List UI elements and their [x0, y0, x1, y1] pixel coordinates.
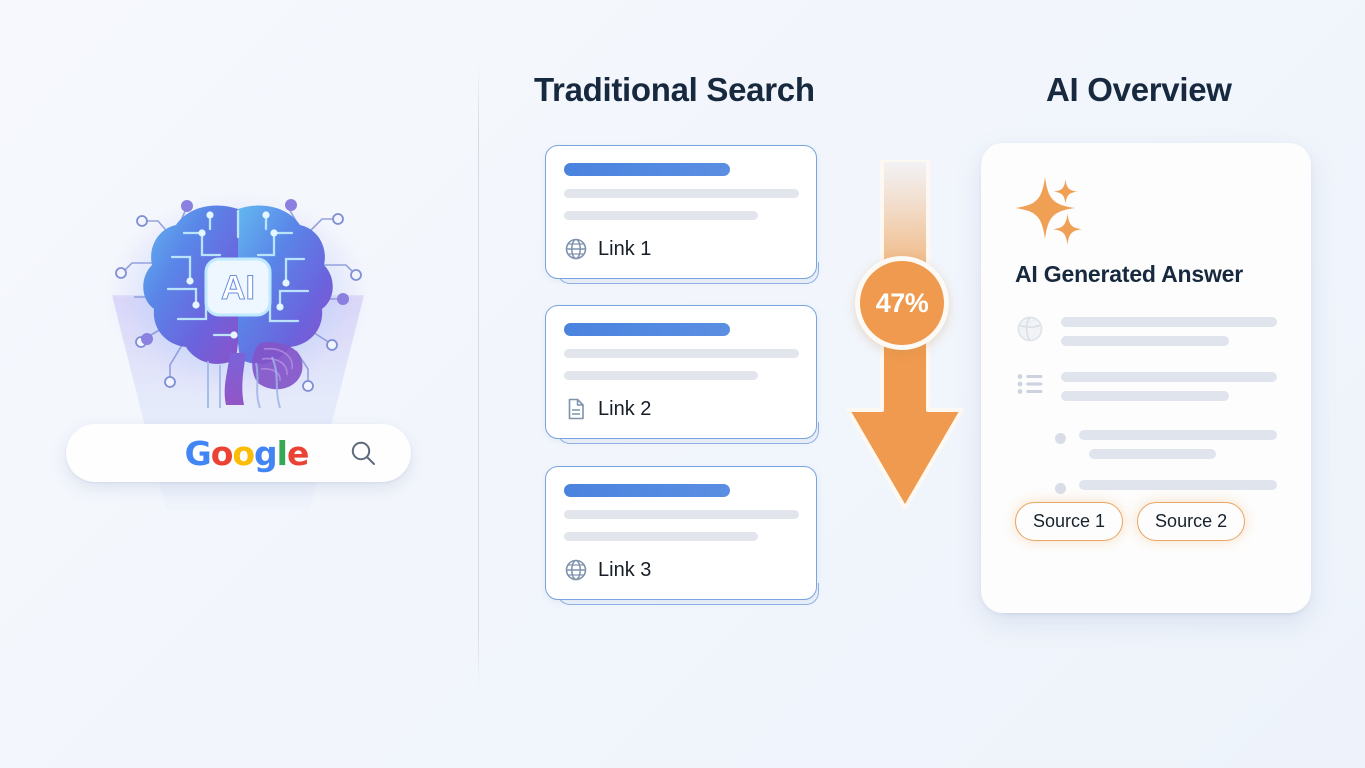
google-logo: Google	[185, 434, 309, 473]
sparkle-icon	[1015, 173, 1107, 259]
ai-content-row-list	[1015, 369, 1277, 410]
ai-text-line	[1061, 372, 1277, 382]
ai-answer-headline: AI Generated Answer	[1015, 261, 1277, 288]
traffic-drop-badge: 47%	[855, 256, 949, 350]
result-snippet-line	[564, 211, 758, 220]
result-snippet-line	[564, 510, 799, 519]
ai-text-line	[1079, 430, 1277, 440]
infographic-canvas: AI Google Traditional Search	[0, 0, 1365, 768]
ai-text-line	[1061, 317, 1277, 327]
result-link-label[interactable]: Link 1	[598, 238, 651, 261]
ai-placeholder-lines	[1079, 480, 1277, 499]
ai-overview-title: AI Overview	[1046, 71, 1232, 109]
sparkle-header	[1015, 173, 1277, 259]
bullet-dot	[1055, 483, 1066, 494]
globe-icon	[1015, 314, 1045, 344]
result-link-row[interactable]: Link 3	[564, 558, 798, 582]
bullet-dot	[1055, 433, 1066, 444]
ai-text-line	[1061, 391, 1229, 401]
globe-icon	[564, 558, 588, 582]
source-pill-1[interactable]: Source 1	[1015, 502, 1123, 541]
ai-placeholder-lines	[1079, 430, 1277, 468]
ai-text-line	[1089, 449, 1216, 459]
ai-content-row-globe	[1015, 314, 1277, 355]
ai-placeholder-lines	[1061, 369, 1277, 410]
result-link-label[interactable]: Link 2	[598, 398, 651, 421]
result-snippet-line	[564, 532, 758, 541]
ai-bullet-item	[1055, 430, 1277, 468]
logo-letter: g	[254, 434, 277, 473]
logo-letter: l	[277, 434, 287, 473]
result-link-label[interactable]: Link 3	[598, 559, 651, 582]
ai-bullet-item	[1055, 480, 1277, 499]
traditional-search-title: Traditional Search	[534, 71, 815, 109]
logo-letter: e	[287, 434, 308, 473]
list-icon	[1015, 369, 1045, 399]
google-search-bar[interactable]: Google	[66, 424, 411, 482]
logo-letter: o	[232, 434, 254, 473]
result-title-placeholder	[564, 484, 730, 497]
result-link-row[interactable]: Link 1	[564, 237, 798, 261]
document-icon	[564, 397, 588, 421]
ai-text-line	[1079, 480, 1277, 490]
ai-brain-graphic: AI	[66, 185, 411, 445]
ai-chip-label: AI	[221, 269, 255, 307]
ai-text-line	[1061, 336, 1229, 346]
search-icon[interactable]	[349, 439, 377, 467]
result-title-placeholder	[564, 163, 730, 176]
source-citations: Source 1 Source 2	[1015, 502, 1245, 541]
logo-letter: o	[211, 434, 233, 473]
brain-circuit-icon: AI	[110, 193, 366, 408]
globe-icon	[564, 237, 588, 261]
ai-search-illustration-panel: AI Google	[0, 0, 478, 768]
source-pill-2[interactable]: Source 2	[1137, 502, 1245, 541]
result-link-row[interactable]: Link 2	[564, 397, 798, 421]
result-card-link-1[interactable]: Link 1	[545, 145, 817, 279]
result-snippet-line	[564, 349, 799, 358]
vertical-divider	[478, 64, 479, 690]
result-snippet-line	[564, 189, 799, 198]
logo-letter: G	[185, 434, 211, 473]
badge-value: 47%	[876, 288, 929, 319]
result-snippet-line	[564, 371, 758, 380]
result-title-placeholder	[564, 323, 730, 336]
ai-overview-card[interactable]: AI Generated Answer	[981, 143, 1311, 613]
result-card-link-3[interactable]: Link 3	[545, 466, 817, 600]
ai-answer-body	[1015, 314, 1277, 499]
ai-placeholder-lines	[1061, 314, 1277, 355]
result-card-link-2[interactable]: Link 2	[545, 305, 817, 439]
